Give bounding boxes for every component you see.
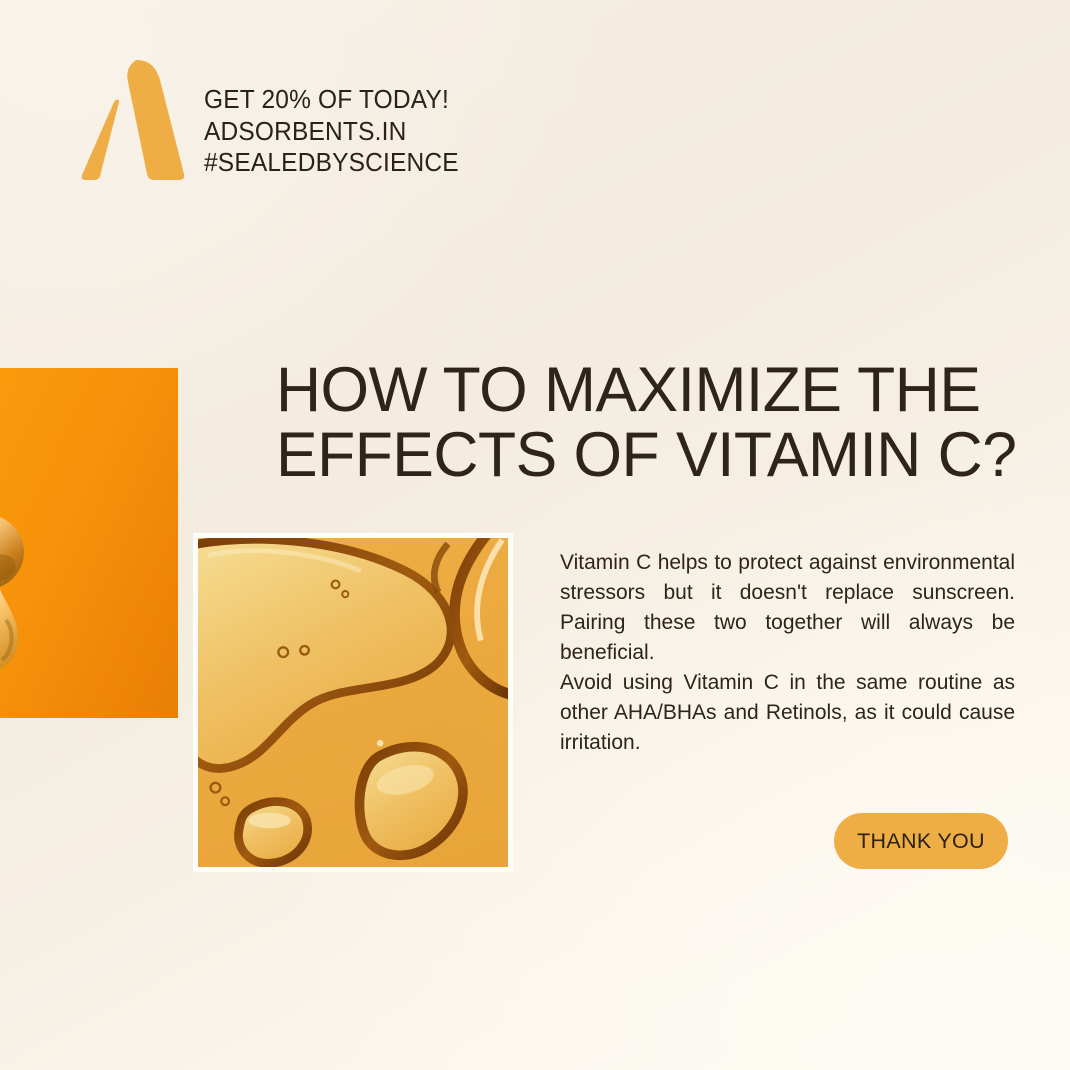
thank-you-button[interactable]: THANK YOU xyxy=(834,813,1008,869)
brand-header: GET 20% OF TODAY! ADSORBENTS.IN #SEALEDB… xyxy=(78,56,469,182)
poster-canvas: GET 20% OF TODAY! ADSORBENTS.IN #SEALEDB… xyxy=(0,0,1070,1070)
serum-droplets-illustration xyxy=(198,538,508,867)
serum-dropper-photo xyxy=(0,368,178,718)
body-paragraph-1: Vitamin C helps to protect against envir… xyxy=(560,548,1015,668)
header-line-website: ADSORBENTS.IN xyxy=(204,117,459,149)
dropper-pipette-illustration xyxy=(0,406,94,706)
body-paragraph-2: Avoid using Vitamin C in the same routin… xyxy=(560,668,1015,758)
header-text-block: GET 20% OF TODAY! ADSORBENTS.IN #SEALEDB… xyxy=(204,56,469,180)
page-title: HOW TO MAXIMIZE THE EFFECTS OF VITAMIN C… xyxy=(276,358,996,488)
serum-texture-photo xyxy=(193,533,513,872)
body-copy: Vitamin C helps to protect against envir… xyxy=(560,548,1015,758)
serum-texture-inner xyxy=(198,538,508,867)
title-line-1: HOW TO MAXIMIZE THE xyxy=(276,358,989,423)
adsorbents-lambda-logo-icon xyxy=(78,56,190,182)
header-line-offer: GET 20% OF TODAY! xyxy=(204,85,459,117)
title-line-2: EFFECTS OF VITAMIN C? xyxy=(276,423,989,488)
header-line-hashtag: #SEALEDBYSCIENCE xyxy=(204,148,459,180)
